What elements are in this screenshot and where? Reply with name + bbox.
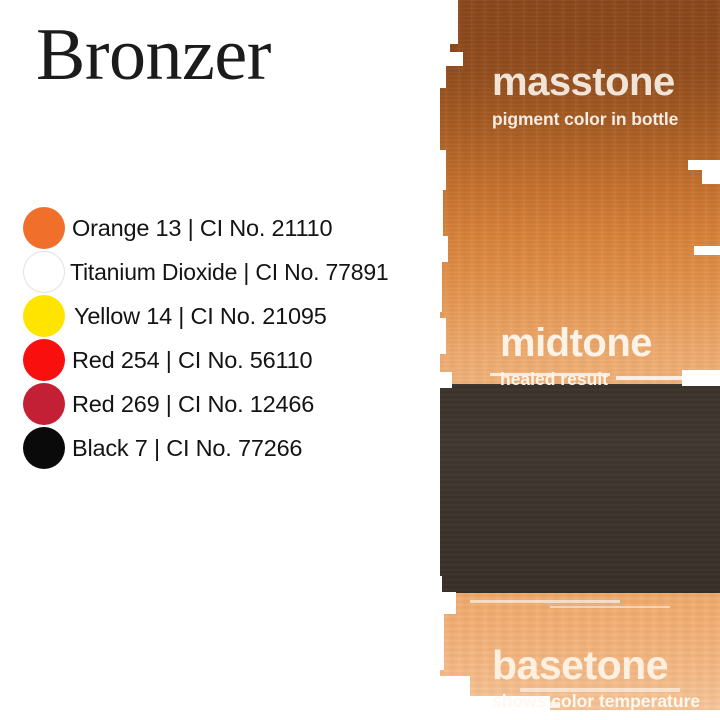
legend-label-red-269: Red 269 | CI No. 12466 bbox=[72, 382, 314, 426]
brush-edge-gap bbox=[430, 236, 448, 262]
legend-item-black-7: Black 7 | CI No. 77266 bbox=[0, 426, 432, 470]
zone-title-midtone: midtone bbox=[500, 323, 652, 363]
bronzer-pigment-card: Bronzer Orange 13 | CI No. 21110 Titaniu… bbox=[0, 0, 720, 720]
paint-highlight-streak bbox=[470, 600, 620, 603]
legend-label-orange-13: Orange 13 | CI No. 21110 bbox=[72, 206, 332, 250]
pigment-legend: Orange 13 | CI No. 21110 Titanium Dioxid… bbox=[0, 206, 432, 470]
legend-item-yellow-14: Yellow 14 | CI No. 21095 bbox=[0, 294, 432, 338]
page-title: Bronzer bbox=[36, 16, 271, 94]
brush-edge-gap bbox=[430, 372, 452, 388]
zone-title-basetone: basetone bbox=[492, 645, 700, 686]
info-column: Bronzer Orange 13 | CI No. 21110 Titaniu… bbox=[0, 0, 432, 720]
zone-title-masstone: masstone bbox=[492, 62, 678, 102]
color-swatch-dot-red-254 bbox=[23, 339, 65, 381]
brush-edge-gap bbox=[430, 262, 442, 312]
legend-label-titanium-dioxide: Titanium Dioxide | CI No. 77891 bbox=[70, 250, 389, 294]
brush-edge-gap bbox=[688, 160, 720, 170]
brush-edge-gap bbox=[430, 150, 446, 190]
legend-label-black-7: Black 7 | CI No. 77266 bbox=[72, 426, 302, 470]
zone-label-basetone: basetone shows color temperature bbox=[492, 645, 700, 711]
zone-label-midtone: midtone healed result bbox=[500, 323, 652, 389]
legend-item-titanium-dioxide: Titanium Dioxide | CI No. 77891 bbox=[0, 250, 432, 294]
zone-subtitle-basetone: shows color temperature bbox=[492, 693, 700, 711]
zone-label-masstone: masstone pigment color in bottle bbox=[492, 62, 678, 129]
legend-item-red-254: Red 254 | CI No. 56110 bbox=[0, 338, 432, 382]
legend-label-yellow-14: Yellow 14 | CI No. 21095 bbox=[74, 294, 327, 338]
legend-label-red-254: Red 254 | CI No. 56110 bbox=[72, 338, 312, 382]
zone-subtitle-masstone: pigment color in bottle bbox=[492, 111, 678, 129]
paint-highlight-streak bbox=[550, 606, 670, 608]
color-swatch-dot-titanium-dioxide bbox=[23, 251, 65, 293]
color-swatch-dot-red-269 bbox=[23, 383, 65, 425]
brush-edge-gap bbox=[702, 170, 720, 184]
color-swatch-dot-yellow-14 bbox=[23, 295, 65, 337]
legend-item-red-269: Red 269 | CI No. 12466 bbox=[0, 382, 432, 426]
brush-texture-dark-band bbox=[438, 384, 720, 593]
dark-band-area bbox=[438, 384, 720, 593]
brush-edge-gap bbox=[430, 188, 443, 236]
brush-edge-gap bbox=[430, 318, 446, 354]
zone-subtitle-midtone: healed result bbox=[500, 371, 652, 389]
brush-edge-gap bbox=[694, 246, 720, 255]
legend-item-orange-13: Orange 13 | CI No. 21110 bbox=[0, 206, 432, 250]
brush-edge-gap bbox=[430, 610, 444, 670]
color-swatch-dot-orange-13 bbox=[23, 207, 65, 249]
paint-swatch-panel: masstone pigment color in bottle midtone… bbox=[430, 0, 720, 720]
color-swatch-dot-black-7 bbox=[23, 427, 65, 469]
brush-edge-gap bbox=[430, 576, 442, 598]
brush-edge-gap bbox=[430, 58, 446, 88]
